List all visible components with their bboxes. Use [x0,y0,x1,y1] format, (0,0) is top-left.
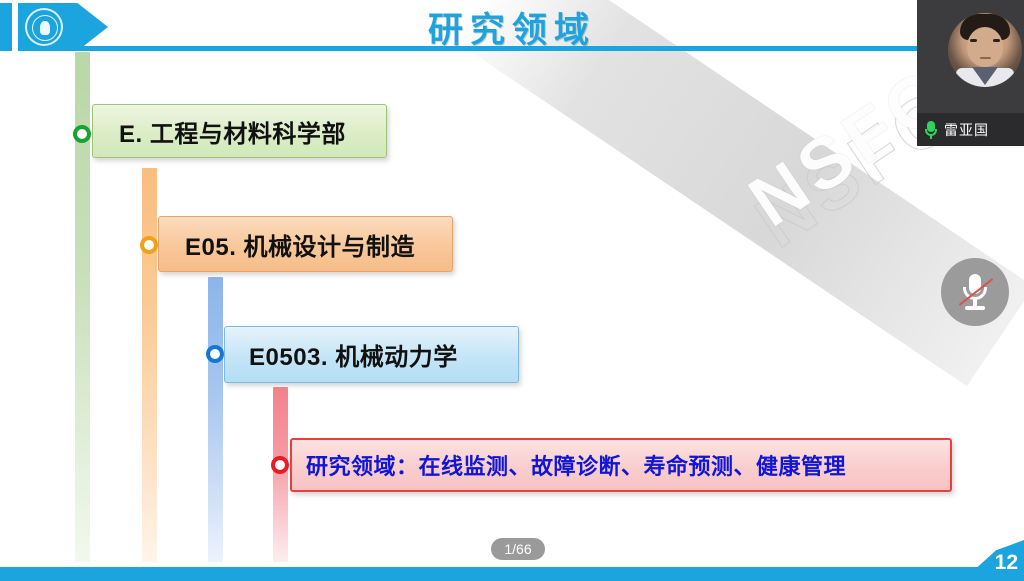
video-name-bar: 雷亚国 [917,113,1024,146]
page-indicator: 1/66 [491,538,545,560]
avatar-mouth [980,57,991,59]
avatar [948,13,1022,87]
rail-level-4 [273,387,288,562]
page-title: 研究领域 [0,2,1024,53]
node-e0503: E0503. 机械动力学 [224,326,519,383]
node-e05-label: E05. 机械设计与制造 [185,227,415,262]
marker-node-e [73,125,91,143]
microphone-on-icon [925,121,937,139]
node-research-label: 研究领域：在线监测、故障诊断、寿命预测、健康管理 [306,449,846,481]
avatar-eye-right [993,39,1000,42]
marker-node-research [271,456,289,474]
node-e05: E05. 机械设计与制造 [158,216,453,272]
node-research: 研究领域：在线监测、故障诊断、寿命预测、健康管理 [290,438,952,492]
rail-level-2 [142,168,157,562]
node-e: E. 工程与材料科学部 [92,104,387,158]
slide-number: 12 [995,551,1018,575]
node-e-label: E. 工程与材料科学部 [119,114,346,149]
participant-name: 雷亚国 [944,120,989,140]
marker-node-e0503 [206,345,224,363]
node-e0503-label: E0503. 机械动力学 [249,337,458,372]
avatar-face [967,27,1003,67]
video-panel[interactable]: 雷亚国 [917,0,1024,146]
footer-bar [0,567,1024,581]
rail-level-3 [208,277,223,562]
marker-node-e05 [140,236,158,254]
avatar-eye-left [970,39,977,42]
microphone-muted-icon[interactable] [941,258,1009,326]
slide-stage: NSFC NSFC 研究领域 E. 工程与材料科学部 E05. 机械设计与制造 … [0,0,1024,581]
